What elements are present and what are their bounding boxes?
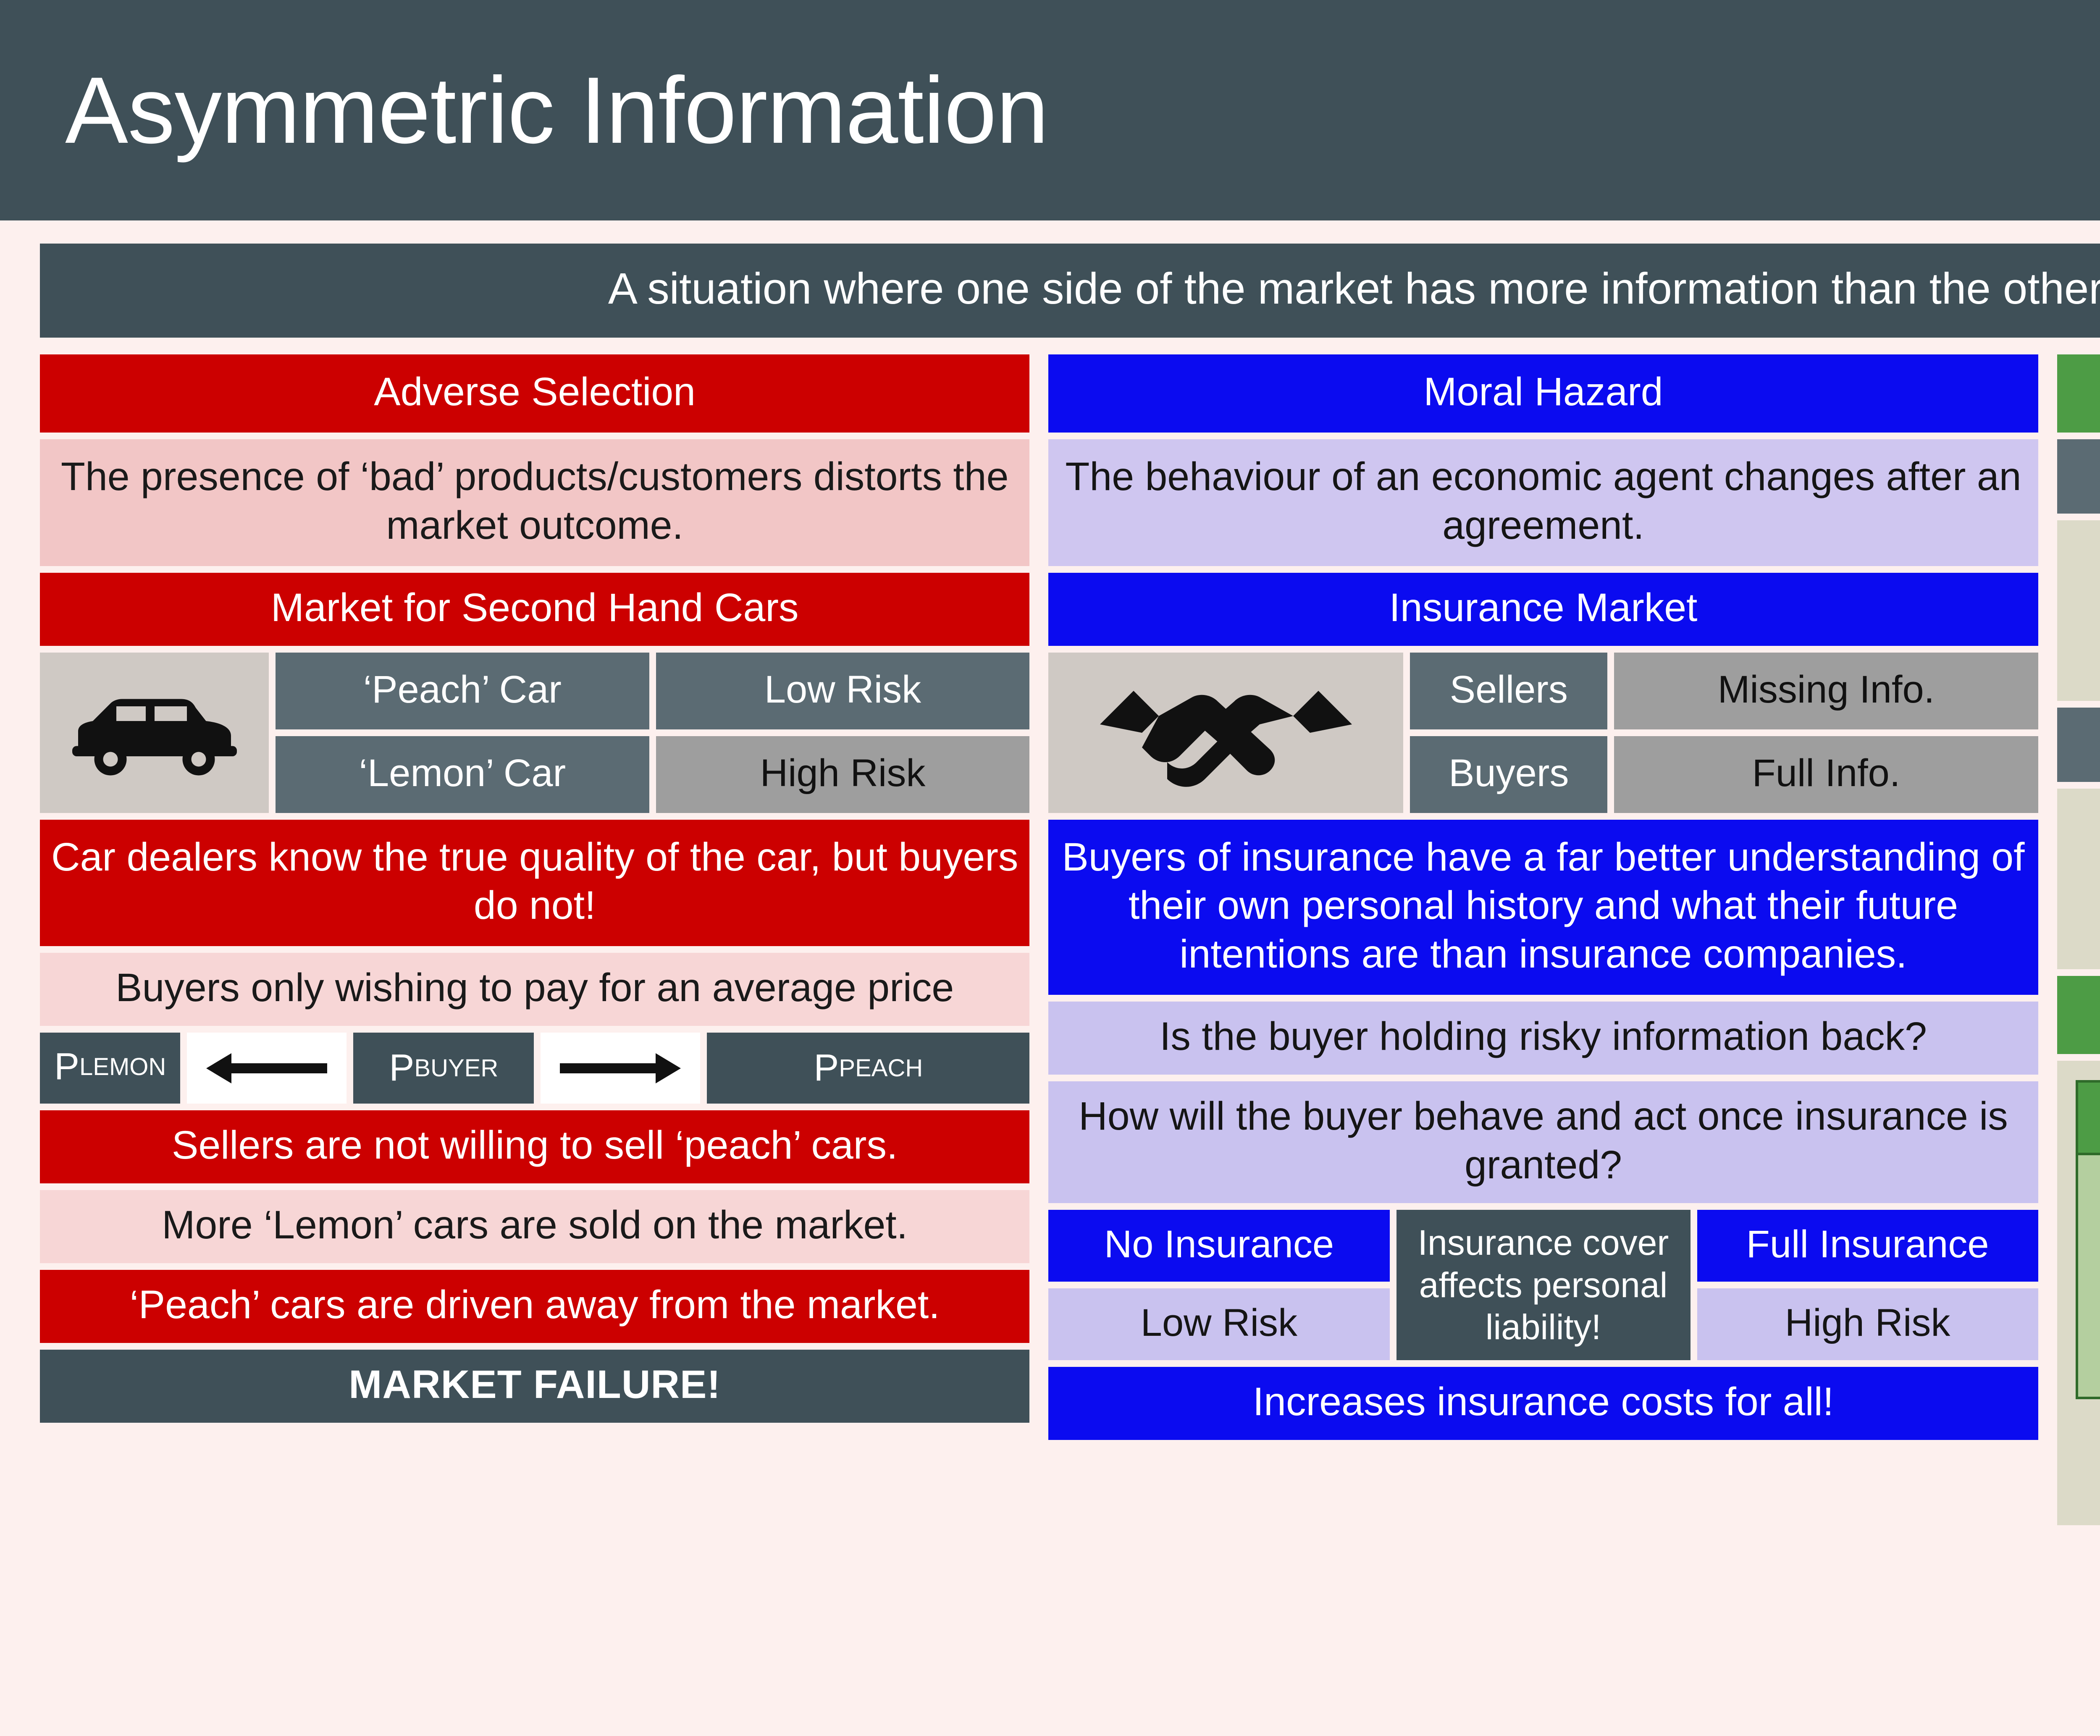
sellers-label: Sellers: [1410, 653, 1607, 729]
price-buyer-label: PBUYER: [353, 1033, 534, 1104]
adverse-selection-point-1: Car dealers know the true quality of the…: [40, 820, 1029, 947]
moral-hazard-footer: Increases insurance costs for all!: [1048, 1367, 2038, 1440]
office-buildings-icon: [2057, 789, 2100, 969]
car-icon: [40, 653, 269, 813]
adverse-selection-market-heading: Market for Second Hand Cars: [40, 573, 1029, 646]
insurance-market-heading: Insurance Market: [1048, 573, 2038, 646]
price-lemon-label: PLEMON: [40, 1033, 180, 1104]
price-buyer-sub: BUYER: [414, 1054, 498, 1082]
solutions-heading: Solutions: [2057, 976, 2100, 1054]
lemon-car-risk: High Risk: [656, 736, 1030, 813]
adverse-selection-outcome-3: ‘Peach’ cars are driven away from the ma…: [40, 1270, 1029, 1343]
solution-signalling: Signalling A process of indicating to th…: [2076, 1080, 2100, 1503]
adverse-selection-outcome-1: Sellers are not willing to sell ‘peach’ …: [40, 1110, 1029, 1183]
page-header: Asymmetric Information EZY ECONOMICS: [0, 0, 2100, 220]
insurance-liability-note: Insurance cover affects personal liabili…: [1396, 1210, 1690, 1360]
applications-heading: Applications: [2057, 354, 2100, 433]
moral-hazard-explanation: Buyers of insurance have a far better un…: [1048, 820, 2038, 995]
no-insurance-risk: Low Risk: [1048, 1288, 1389, 1360]
moral-hazard-question-2: How will the buyer behave and act once i…: [1048, 1081, 2038, 1203]
table-row: ‘Peach’ Car Low Risk: [276, 653, 1029, 729]
adverse-selection-definition: The presence of ‘bad’ products/customers…: [40, 439, 1029, 566]
solution-signalling-title: Signalling: [2076, 1080, 2100, 1155]
price-peach-p: P: [814, 1046, 839, 1090]
table-row: Buyers Full Info.: [1410, 736, 2038, 813]
no-insurance-label: No Insurance: [1048, 1210, 1389, 1282]
arrow-left-icon: [187, 1033, 346, 1104]
price-lemon-p: P: [54, 1045, 79, 1088]
peach-car-risk: Low Risk: [656, 653, 1030, 729]
definition-banner: A situation where one side of the market…: [40, 244, 2100, 338]
adverse-selection-outcome-2: More ‘Lemon’ cars are sold on the market…: [40, 1190, 1029, 1263]
price-peach-label: PPEACH: [707, 1033, 1029, 1104]
arrow-right-icon: [541, 1033, 700, 1104]
adverse-selection-heading: Adverse Selection: [40, 354, 1029, 433]
buyers-info: Full Info.: [1614, 736, 2038, 813]
price-peach-sub: PEACH: [839, 1054, 923, 1082]
applications-grid: Finance Education: [2057, 439, 2100, 969]
price-lemon-sub: LEMON: [79, 1053, 166, 1081]
lemon-car-label: ‘Lemon’ Car: [276, 736, 649, 813]
solutions-panel: Signalling A process of indicating to th…: [2057, 1061, 2100, 1525]
market-failure-footer: MARKET FAILURE!: [40, 1350, 1029, 1423]
price-comparison-row: PLEMON PBUYER PPEACH: [40, 1033, 1029, 1104]
insurance-info-matrix: Sellers Missing Info. Buyers Full Info.: [1048, 653, 2038, 813]
insurance-outcome-triple: No Insurance Low Risk Insurance cover af…: [1048, 1210, 2038, 1360]
bank-icon: [2057, 520, 2100, 701]
table-row: ‘Lemon’ Car High Risk: [276, 736, 1029, 813]
full-insurance-risk: High Risk: [1697, 1288, 2038, 1360]
second-hand-car-matrix: ‘Peach’ Car Low Risk ‘Lemon’ Car High Ri…: [40, 653, 1029, 813]
solution-signalling-text: A process of indicating to the other sid…: [2076, 1155, 2100, 1399]
moral-hazard-question-1: Is the buyer holding risky information b…: [1048, 1002, 2038, 1075]
adverse-selection-point-2: Buyers only wishing to pay for an averag…: [40, 953, 1029, 1026]
handshake-icon: [1048, 653, 1403, 813]
page-title: Asymmetric Information: [65, 56, 1048, 165]
moral-hazard-definition: The behaviour of an economic agent chang…: [1048, 439, 2038, 566]
sellers-info: Missing Info.: [1614, 653, 2038, 729]
application-label-jobs-market: Jobs Market: [2057, 708, 2100, 782]
column-moral-hazard: Moral Hazard The behaviour of an economi…: [1048, 354, 2038, 1440]
price-buyer-p: P: [389, 1046, 414, 1090]
table-row: Sellers Missing Info.: [1410, 653, 2038, 729]
column-adverse-selection: Adverse Selection The presence of ‘bad’ …: [40, 354, 1029, 1423]
buyers-label: Buyers: [1410, 736, 1607, 813]
peach-car-label: ‘Peach’ Car: [276, 653, 649, 729]
content-columns: Adverse Selection The presence of ‘bad’ …: [40, 354, 2100, 1525]
column-applications: Applications Finance Education: [2057, 354, 2100, 1525]
full-insurance-label: Full Insurance: [1697, 1210, 2038, 1282]
moral-hazard-heading: Moral Hazard: [1048, 354, 2038, 433]
application-label-finance: Finance: [2057, 439, 2100, 514]
